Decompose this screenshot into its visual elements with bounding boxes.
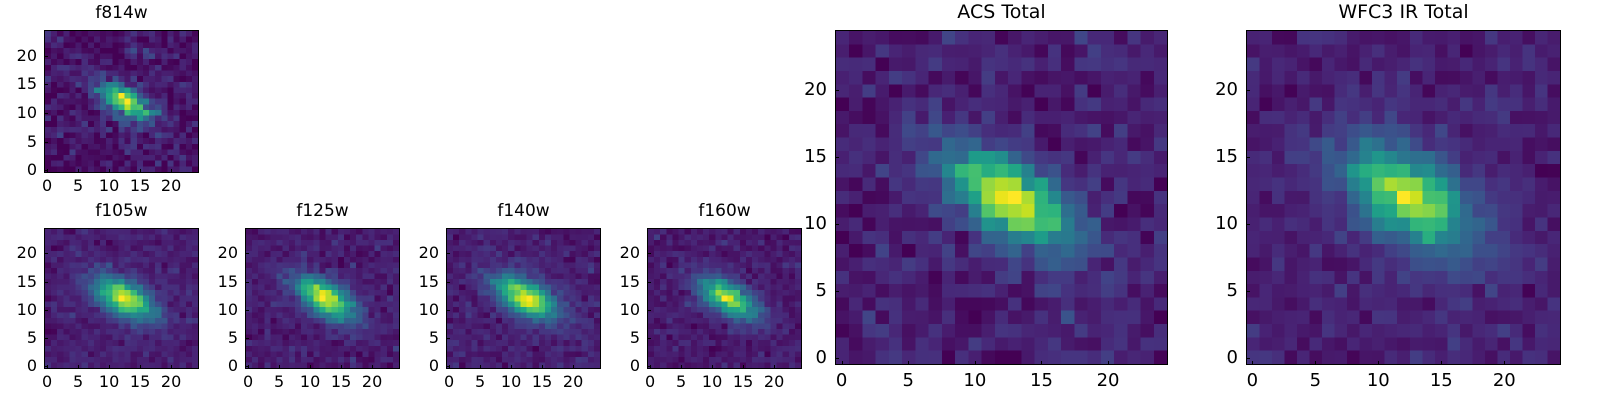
y-tick-label-f140w-10: 10 — [410, 302, 439, 318]
panel-title-wfc3_total: WFC3 IR Total — [1246, 3, 1561, 22]
panel-wfc3_total: WFC3 IR Total0510152005101520 — [1246, 30, 1561, 365]
y-tick-label-f160w-10: 10 — [611, 302, 640, 318]
x-tick-label-wfc3_total-5: 5 — [1310, 372, 1321, 390]
y-tickmark-f160w-15 — [647, 282, 651, 283]
panel-f140w: f140w0510152005101520 — [446, 228, 601, 369]
x-tickmark-wfc3_total-5 — [1315, 361, 1316, 365]
x-tick-label-f140w-15: 15 — [532, 374, 552, 390]
panel-f125w: f125w0510152005101520 — [245, 228, 400, 369]
x-tick-label-wfc3_total-15: 15 — [1430, 372, 1453, 390]
x-tickmark-f814w-5 — [78, 169, 79, 173]
x-tickmark-f105w-20 — [171, 365, 172, 369]
x-tickmark-f125w-15 — [341, 365, 342, 369]
x-tickmark-f140w-5 — [480, 365, 481, 369]
heatmap-axes-f105w — [44, 228, 199, 369]
y-tickmark-f125w-20 — [245, 253, 249, 254]
panel-title-f105w: f105w — [44, 203, 199, 220]
x-tick-label-f140w-20: 20 — [563, 374, 583, 390]
x-tick-label-f105w-10: 10 — [99, 374, 119, 390]
heatmap-image-f160w — [648, 229, 801, 368]
y-tick-label-f140w-20: 20 — [410, 245, 439, 261]
heatmap-axes-f140w — [446, 228, 601, 369]
heatmap-image-f140w — [447, 229, 600, 368]
x-tickmark-f814w-10 — [109, 169, 110, 173]
x-tickmark-f814w-15 — [140, 169, 141, 173]
x-tick-label-acs_total-5: 5 — [903, 372, 914, 390]
x-tickmark-f160w-20 — [774, 365, 775, 369]
figure-canvas: f814w0510152005101520f105w05101520051015… — [0, 0, 1600, 400]
y-tick-label-wfc3_total-10: 10 — [1206, 215, 1238, 233]
x-tick-label-f814w-15: 15 — [130, 178, 150, 194]
y-tickmark-f160w-5 — [647, 338, 651, 339]
heatmap-axes-acs_total — [835, 30, 1168, 365]
y-tickmark-f105w-0 — [44, 366, 48, 367]
y-tickmark-f814w-20 — [44, 56, 48, 57]
y-tickmark-wfc3_total-5 — [1246, 291, 1250, 292]
y-tick-label-f105w-20: 20 — [8, 245, 37, 261]
y-tick-label-f125w-20: 20 — [209, 245, 238, 261]
panel-title-f140w: f140w — [446, 203, 601, 220]
x-tickmark-f105w-5 — [78, 365, 79, 369]
x-tickmark-f814w-20 — [171, 169, 172, 173]
x-tick-label-f160w-15: 15 — [733, 374, 753, 390]
heatmap-image-f814w — [45, 31, 198, 172]
x-tickmark-f140w-20 — [573, 365, 574, 369]
y-tickmark-f814w-15 — [44, 84, 48, 85]
heatmap-axes-wfc3_total — [1246, 30, 1561, 365]
y-tickmark-acs_total-5 — [835, 291, 839, 292]
y-tick-label-f140w-15: 15 — [410, 274, 439, 290]
y-tick-label-wfc3_total-20: 20 — [1206, 81, 1238, 99]
x-tickmark-f125w-10 — [310, 365, 311, 369]
x-tick-label-f160w-5: 5 — [676, 374, 686, 390]
y-tickmark-f125w-5 — [245, 338, 249, 339]
heatmap-image-f105w — [45, 229, 198, 368]
y-tickmark-f105w-10 — [44, 310, 48, 311]
x-tickmark-f160w-5 — [681, 365, 682, 369]
y-tick-label-f105w-0: 0 — [8, 358, 37, 374]
x-tick-label-f125w-0: 0 — [243, 374, 253, 390]
x-tickmark-wfc3_total-20 — [1504, 361, 1505, 365]
y-tickmark-f814w-5 — [44, 142, 48, 143]
y-tickmark-f160w-10 — [647, 310, 651, 311]
y-tick-label-f125w-5: 5 — [209, 330, 238, 346]
x-tick-label-acs_total-20: 20 — [1097, 372, 1120, 390]
y-tick-label-f105w-10: 10 — [8, 302, 37, 318]
y-tickmark-f125w-0 — [245, 366, 249, 367]
x-tick-label-f125w-5: 5 — [274, 374, 284, 390]
y-tick-label-f160w-5: 5 — [611, 330, 640, 346]
x-tick-label-f140w-10: 10 — [501, 374, 521, 390]
y-tick-label-f125w-0: 0 — [209, 358, 238, 374]
y-tickmark-wfc3_total-20 — [1246, 90, 1250, 91]
x-tick-label-f105w-0: 0 — [42, 374, 52, 390]
y-tickmark-f140w-5 — [446, 338, 450, 339]
y-tick-label-acs_total-10: 10 — [795, 215, 827, 233]
x-tick-label-f105w-20: 20 — [161, 374, 181, 390]
x-tick-label-f814w-10: 10 — [99, 178, 119, 194]
heatmap-axes-f125w — [245, 228, 400, 369]
y-tick-label-f140w-5: 5 — [410, 330, 439, 346]
y-tick-label-f125w-15: 15 — [209, 274, 238, 290]
heatmap-image-wfc3_total — [1247, 31, 1560, 364]
y-tickmark-f125w-10 — [245, 310, 249, 311]
panel-title-f125w: f125w — [245, 203, 400, 220]
x-tickmark-wfc3_total-10 — [1378, 361, 1379, 365]
heatmap-image-acs_total — [836, 31, 1167, 364]
x-tick-label-wfc3_total-0: 0 — [1247, 372, 1258, 390]
y-tick-label-wfc3_total-15: 15 — [1206, 148, 1238, 166]
x-tickmark-acs_total-15 — [1041, 361, 1042, 365]
y-tick-label-f105w-5: 5 — [8, 330, 37, 346]
y-tickmark-wfc3_total-0 — [1246, 358, 1250, 359]
y-tickmark-acs_total-20 — [835, 90, 839, 91]
x-tick-label-f160w-0: 0 — [645, 374, 655, 390]
y-tick-label-acs_total-20: 20 — [795, 81, 827, 99]
x-tick-label-f125w-15: 15 — [331, 374, 351, 390]
x-tick-label-acs_total-15: 15 — [1030, 372, 1053, 390]
x-tickmark-f160w-15 — [743, 365, 744, 369]
x-tickmark-f160w-10 — [712, 365, 713, 369]
x-tickmark-acs_total-10 — [975, 361, 976, 365]
y-tickmark-f105w-5 — [44, 338, 48, 339]
x-tick-label-acs_total-10: 10 — [963, 372, 986, 390]
y-tickmark-f125w-15 — [245, 282, 249, 283]
y-tickmark-f140w-10 — [446, 310, 450, 311]
x-tick-label-f140w-5: 5 — [475, 374, 485, 390]
x-tick-label-f125w-10: 10 — [300, 374, 320, 390]
panel-title-f814w: f814w — [44, 5, 199, 22]
y-tickmark-f140w-20 — [446, 253, 450, 254]
x-tick-label-f814w-20: 20 — [161, 178, 181, 194]
y-tick-label-f814w-5: 5 — [8, 134, 37, 150]
x-tick-label-f814w-0: 0 — [42, 178, 52, 194]
y-tickmark-f814w-0 — [44, 170, 48, 171]
x-tickmark-acs_total-0 — [842, 361, 843, 365]
heatmap-axes-f160w — [647, 228, 802, 369]
panel-f814w: f814w0510152005101520 — [44, 30, 199, 173]
x-tickmark-wfc3_total-0 — [1252, 361, 1253, 365]
x-tick-label-f160w-20: 20 — [764, 374, 784, 390]
y-tick-label-f814w-0: 0 — [8, 162, 37, 178]
x-tickmark-f140w-15 — [542, 365, 543, 369]
x-tickmark-f125w-20 — [372, 365, 373, 369]
y-tickmark-f160w-20 — [647, 253, 651, 254]
x-tick-label-acs_total-0: 0 — [836, 372, 847, 390]
panel-f160w: f160w0510152005101520 — [647, 228, 802, 369]
y-tickmark-f140w-15 — [446, 282, 450, 283]
y-tickmark-f814w-10 — [44, 113, 48, 114]
y-tick-label-f160w-15: 15 — [611, 274, 640, 290]
panel-acs_total: ACS Total0510152005101520 — [835, 30, 1168, 365]
x-tick-label-f140w-0: 0 — [444, 374, 454, 390]
panel-f105w: f105w0510152005101520 — [44, 228, 199, 369]
y-tick-label-acs_total-0: 0 — [795, 349, 827, 367]
y-tickmark-f105w-20 — [44, 253, 48, 254]
heatmap-axes-f814w — [44, 30, 199, 173]
x-tick-label-f105w-15: 15 — [130, 374, 150, 390]
x-tickmark-f105w-15 — [140, 365, 141, 369]
y-tick-label-f814w-10: 10 — [8, 105, 37, 121]
y-tick-label-f140w-0: 0 — [410, 358, 439, 374]
x-tickmark-wfc3_total-15 — [1441, 361, 1442, 365]
x-tick-label-f105w-5: 5 — [73, 374, 83, 390]
x-tick-label-wfc3_total-10: 10 — [1367, 372, 1390, 390]
x-tickmark-acs_total-20 — [1108, 361, 1109, 365]
y-tick-label-f125w-10: 10 — [209, 302, 238, 318]
y-tickmark-f105w-15 — [44, 282, 48, 283]
panel-title-acs_total: ACS Total — [835, 3, 1168, 22]
x-tick-label-f814w-5: 5 — [73, 178, 83, 194]
y-tickmark-wfc3_total-10 — [1246, 224, 1250, 225]
y-tick-label-wfc3_total-0: 0 — [1206, 349, 1238, 367]
x-tickmark-f105w-10 — [109, 365, 110, 369]
y-tickmark-wfc3_total-15 — [1246, 157, 1250, 158]
y-tick-label-f814w-20: 20 — [8, 48, 37, 64]
y-tickmark-f140w-0 — [446, 366, 450, 367]
y-tick-label-wfc3_total-5: 5 — [1206, 282, 1238, 300]
heatmap-image-f125w — [246, 229, 399, 368]
y-tick-label-acs_total-15: 15 — [795, 148, 827, 166]
y-tickmark-f160w-0 — [647, 366, 651, 367]
x-tickmark-f140w-10 — [511, 365, 512, 369]
x-tick-label-f160w-10: 10 — [702, 374, 722, 390]
y-tickmark-acs_total-10 — [835, 224, 839, 225]
x-tickmark-acs_total-5 — [908, 361, 909, 365]
y-tick-label-f814w-15: 15 — [8, 76, 37, 92]
y-tickmark-acs_total-15 — [835, 157, 839, 158]
panel-title-f160w: f160w — [647, 203, 802, 220]
x-tick-label-wfc3_total-20: 20 — [1493, 372, 1516, 390]
y-tick-label-f160w-20: 20 — [611, 245, 640, 261]
x-tickmark-f125w-5 — [279, 365, 280, 369]
y-tick-label-acs_total-5: 5 — [795, 282, 827, 300]
y-tickmark-acs_total-0 — [835, 358, 839, 359]
y-tick-label-f105w-15: 15 — [8, 274, 37, 290]
y-tick-label-f160w-0: 0 — [611, 358, 640, 374]
x-tick-label-f125w-20: 20 — [362, 374, 382, 390]
